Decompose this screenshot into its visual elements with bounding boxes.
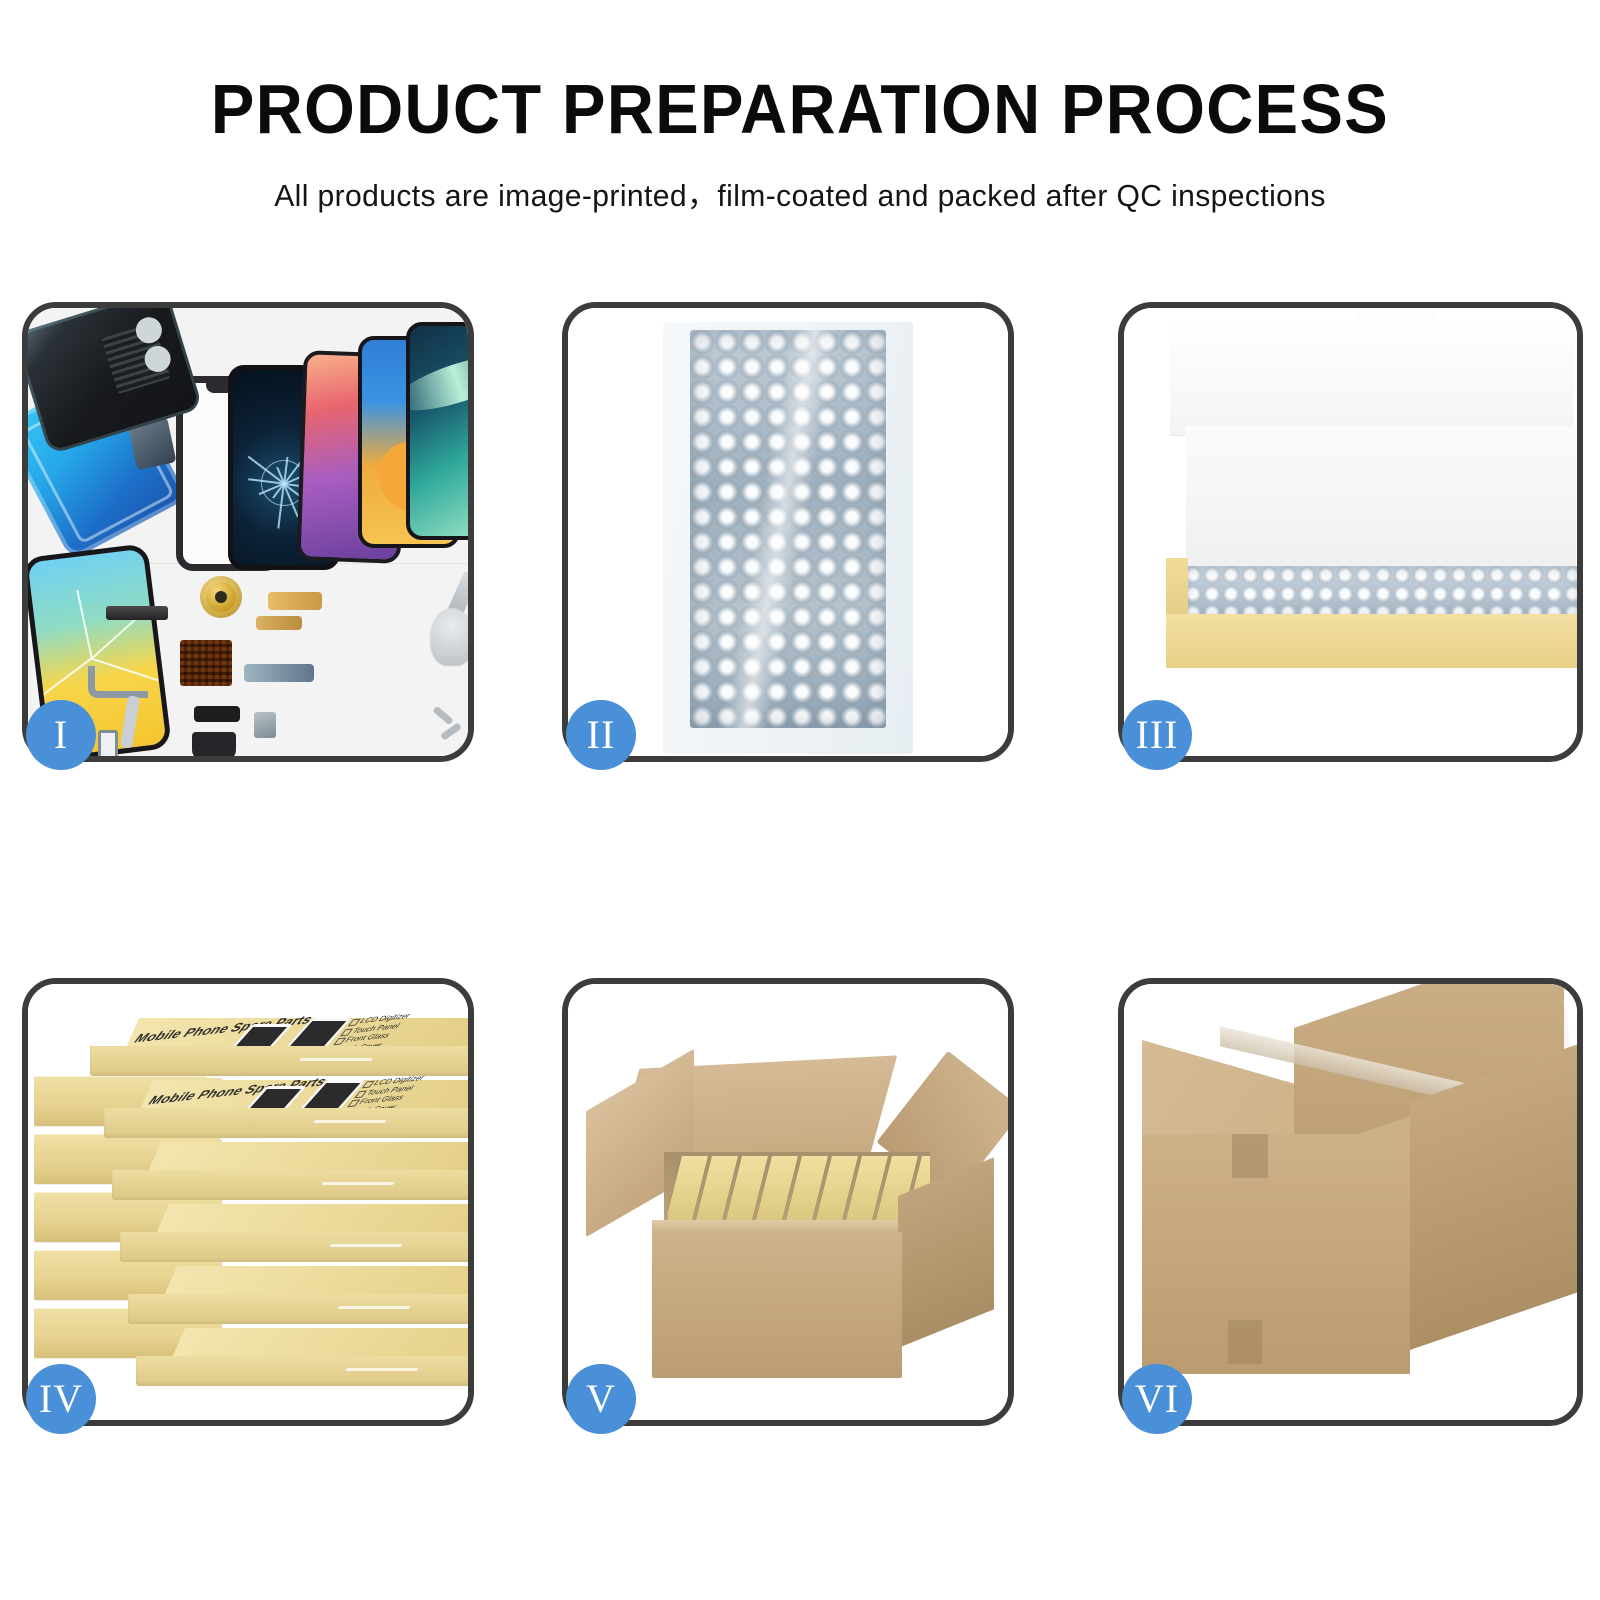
infographic-page: PRODUCT PREPARATION PROCESS All products… — [0, 0, 1600, 1600]
step-badge-1: I — [26, 700, 96, 770]
retail-box-fourth — [120, 1204, 468, 1270]
sim-tray-part — [98, 730, 118, 756]
sealed-carton-front-image — [1142, 1134, 1410, 1374]
mailer-back-wall-image — [1186, 426, 1576, 576]
retail-box-sixth — [136, 1328, 468, 1394]
flex-cable-part-b — [256, 616, 302, 630]
mailer-front-wall-image — [1166, 614, 1577, 668]
retail-box-stack-right: Mobile Phone Spare Parts LCD Digitizer T… — [90, 1018, 468, 1398]
step-panel-2: II — [562, 302, 1014, 762]
mailer-bubble-content-image — [1184, 566, 1577, 618]
step-badge-2: II — [566, 700, 636, 770]
battery-connector-part — [194, 706, 240, 722]
wireless-charging-coil-part — [200, 576, 242, 618]
earpiece-speaker-part — [106, 606, 168, 620]
ribbon-cable-part — [88, 666, 148, 698]
camera-module-part — [254, 712, 276, 738]
flex-cable-part-a — [268, 592, 322, 610]
retail-box-brand-1: Mobile Phone Spare Parts — [131, 1012, 317, 1045]
retail-box-brand-2: Mobile Phone Spare Parts — [145, 1074, 331, 1107]
step-badge-5: V — [566, 1364, 636, 1434]
carton-tab-upper — [1232, 1134, 1268, 1178]
step-panel-6: VI — [1118, 978, 1583, 1426]
step-panel-4: Mobile Phone Spare Parts LCD Digitizer T… — [22, 978, 474, 1426]
step-image-2 — [568, 308, 1008, 756]
step-image-3 — [1124, 308, 1577, 756]
carton-front-face-image — [652, 1232, 902, 1378]
step-panel-1: I — [22, 302, 474, 762]
retail-box-third — [112, 1142, 468, 1208]
bubble-wrap-image — [690, 330, 886, 728]
teal-phone-image — [406, 322, 468, 540]
retail-box-second: Mobile Phone Spare Parts LCD Digitizer T… — [104, 1080, 468, 1146]
retail-box-fifth — [128, 1266, 468, 1332]
charging-port-part — [192, 732, 236, 756]
ic-chip-part — [180, 640, 232, 686]
cleaning-brush-tool — [430, 608, 468, 666]
step-panel-5: V — [562, 978, 1014, 1426]
step-badge-4: IV — [26, 1364, 96, 1434]
step-image-4: Mobile Phone Spare Parts LCD Digitizer T… — [28, 984, 468, 1420]
mailer-lid-image — [1170, 318, 1574, 436]
step-image-1 — [28, 308, 468, 756]
step-badge-6: VI — [1122, 1364, 1192, 1434]
step-image-5 — [568, 984, 1008, 1420]
step-image-6 — [1124, 984, 1577, 1420]
process-steps-grid: I II III — [0, 0, 1600, 1600]
step-badge-3: III — [1122, 700, 1192, 770]
flex-cable-part-c — [244, 664, 314, 682]
carton-tab-lower — [1228, 1320, 1262, 1364]
step-panel-3: III — [1118, 302, 1583, 762]
